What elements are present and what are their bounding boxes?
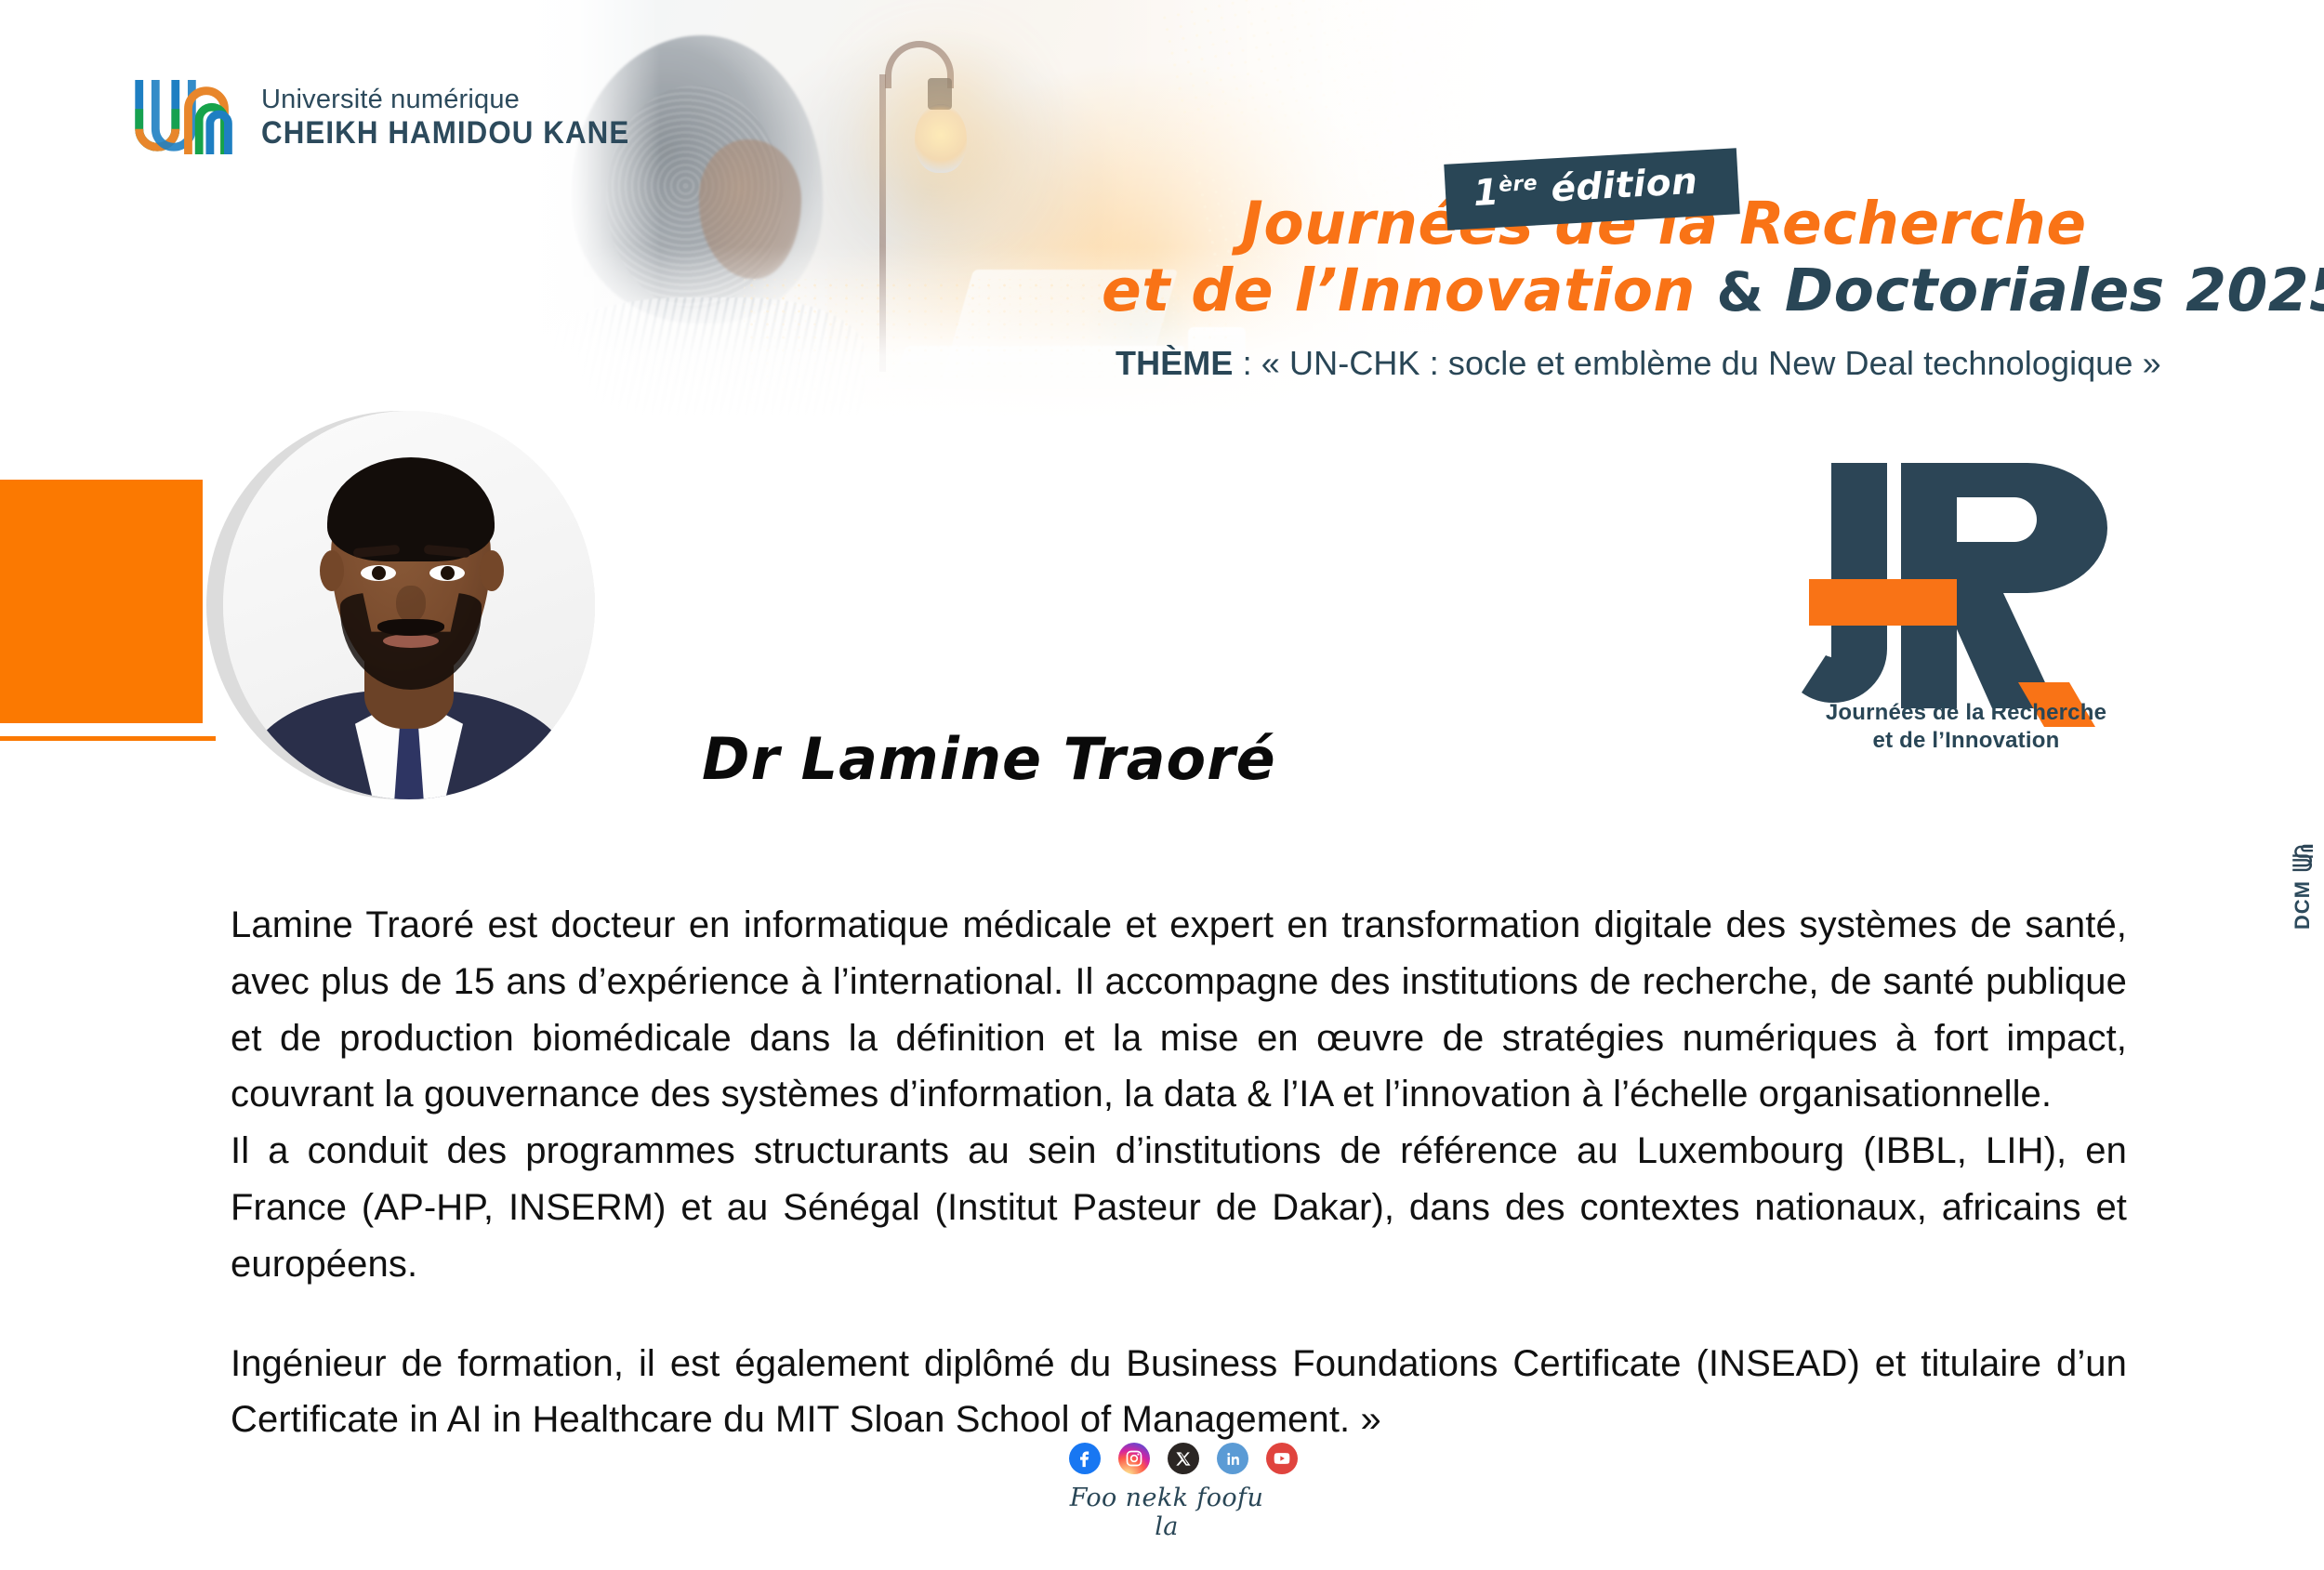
x-twitter-icon[interactable] — [1168, 1443, 1199, 1474]
bio-spacer — [231, 1293, 2127, 1336]
jri-caption-line-1: Journées de la Recherche — [1780, 699, 2152, 727]
edition-ordinal: ère — [1499, 172, 1538, 197]
event-title-line-2: et de l’Innovation & Doctoriales 2025 — [1102, 257, 2226, 324]
bio-paragraph-2: Il a conduit des programmes structurants… — [231, 1123, 2127, 1292]
side-vertical-mark: DCM — [2291, 841, 2315, 930]
facebook-icon[interactable] — [1069, 1443, 1101, 1474]
portrait-pupil-right — [441, 566, 455, 580]
youtube-icon[interactable] — [1266, 1443, 1298, 1474]
instagram-icon[interactable] — [1118, 1443, 1150, 1474]
linkedin-icon[interactable] — [1217, 1443, 1248, 1474]
side-mark-text: DCM — [2291, 880, 2315, 930]
speaker-name: Dr Lamine Traoré — [702, 725, 1276, 793]
bio-paragraph-3: Ingénieur de formation, il est également… — [231, 1336, 2127, 1449]
jri-logo-caption: Journées de la Recherche et de l’Innovat… — [1780, 699, 2152, 755]
social-links — [1069, 1443, 1298, 1474]
portrait-ear-left — [320, 550, 344, 591]
portrait-mouth — [383, 634, 439, 648]
portrait-pupil-left — [372, 566, 386, 580]
orange-accent-rule — [0, 736, 216, 741]
event-theme: THÈME : « UN-CHK : socle et emblème du N… — [1116, 344, 2212, 383]
bio-paragraph-1: Lamine Traoré est docteur en informatiqu… — [231, 897, 2127, 1123]
jri-caption-line-2: et de l’Innovation — [1780, 727, 2152, 755]
speaker-portrait — [223, 411, 595, 799]
edition-word: édition — [1550, 161, 1698, 211]
event-title-line-2-orange: et de l’Innovation — [1102, 257, 1696, 324]
un-chk-logo[interactable]: Université numérique CHEIKH HAMIDOU KANE — [128, 73, 662, 162]
theme-text: : « UN-CHK : socle et emblème du New Dea… — [1234, 344, 2161, 382]
un-chk-small-icon — [2291, 841, 2315, 873]
theme-label: THÈME — [1116, 344, 1234, 382]
portrait-moustache — [377, 619, 444, 636]
un-chk-logo-wordmark: Université numérique CHEIKH HAMIDOU KANE — [261, 86, 662, 149]
portrait-ear-right — [480, 550, 504, 591]
event-title-ampersand: & — [1716, 260, 1763, 323]
edition-number: 1 — [1472, 172, 1500, 215]
un-chk-logo-icon — [128, 73, 244, 162]
poster-canvas: Université numérique CHEIKH HAMIDOU KANE… — [0, 0, 2324, 1570]
portrait-nose — [396, 586, 426, 623]
university-line-1: Université numérique — [261, 86, 662, 113]
orange-accent-block — [0, 480, 203, 723]
event-title-line-2-navy: Doctoriales 2025 — [1785, 257, 2324, 324]
footer-tagline: Foo nekk foofu la — [1069, 1484, 1264, 1541]
speaker-bio: Lamine Traoré est docteur en informatiqu… — [231, 897, 2127, 1448]
university-line-2: CHEIKH HAMIDOU KANE — [261, 117, 629, 149]
